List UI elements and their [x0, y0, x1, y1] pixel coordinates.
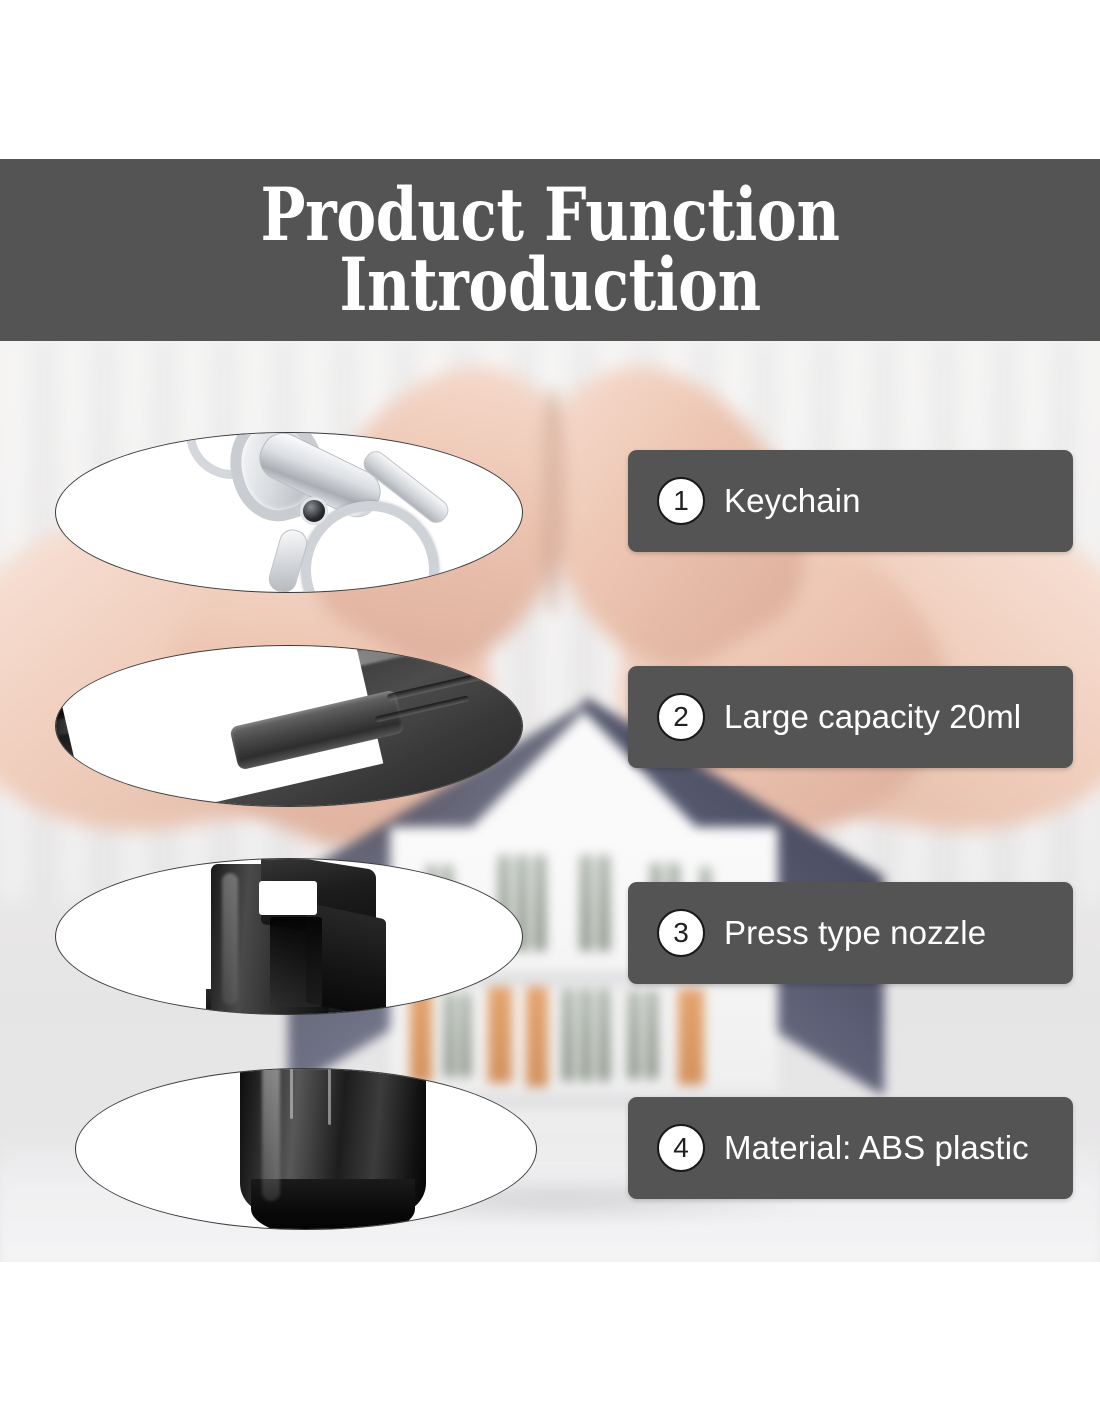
feature-label-4[interactable]: 4 Material: ABS plastic	[628, 1097, 1073, 1199]
product-infographic-page: Product Function Introduction	[0, 0, 1100, 1422]
page-title: Product Function Introduction	[252, 180, 847, 320]
abs-cap-art	[76, 1069, 536, 1229]
house-window	[580, 989, 592, 1081]
house-accent-panel	[678, 989, 704, 1085]
feature-label-2[interactable]: 2 Large capacity 20ml	[628, 666, 1073, 768]
header-banner: Product Function Introduction	[0, 159, 1100, 341]
keychain-clasp-art	[56, 433, 522, 592]
callout-ellipse-capacity	[55, 645, 523, 807]
house-window	[580, 855, 592, 951]
house-window	[534, 855, 546, 951]
feature-number-badge-1: 1	[657, 477, 705, 525]
feature-label-text-2: Large capacity 20ml	[724, 698, 1021, 736]
cap-wire-detail	[375, 1207, 424, 1230]
cap-seam	[328, 1068, 331, 1125]
finger-gap-shadow	[540, 386, 566, 616]
callout-ellipse-material	[75, 1068, 537, 1230]
keychain-rivet	[300, 497, 328, 525]
feature-label-text-4: Material: ABS plastic	[724, 1129, 1029, 1167]
feature-number-badge-2: 2	[657, 693, 705, 741]
cap-highlight	[262, 1068, 280, 1201]
callout-ellipse-keychain	[55, 432, 523, 593]
nozzle-highlight	[222, 873, 238, 1005]
house-window	[598, 989, 610, 1081]
house-window	[562, 989, 574, 1081]
house-window	[628, 991, 640, 1079]
house-window	[598, 855, 610, 951]
feature-label-1[interactable]: 1 Keychain	[628, 450, 1073, 552]
nozzle-inner-slot	[270, 917, 322, 1007]
nozzle-notch-cutout	[259, 881, 317, 915]
top-white-margin	[0, 0, 1100, 159]
bottom-white-margin	[0, 1262, 1100, 1422]
press-nozzle-art	[56, 859, 522, 1014]
callout-ellipse-nozzle	[55, 858, 523, 1015]
feature-label-text-3: Press type nozzle	[724, 914, 986, 952]
feature-label-3[interactable]: 3 Press type nozzle	[628, 882, 1073, 984]
bottle-body-art	[56, 646, 522, 806]
cap-seam	[290, 1068, 293, 1119]
house-window	[646, 991, 658, 1079]
feature-number-badge-4: 4	[657, 1124, 705, 1172]
feature-number-badge-3: 3	[657, 909, 705, 957]
feature-label-text-1: Keychain	[724, 482, 861, 520]
